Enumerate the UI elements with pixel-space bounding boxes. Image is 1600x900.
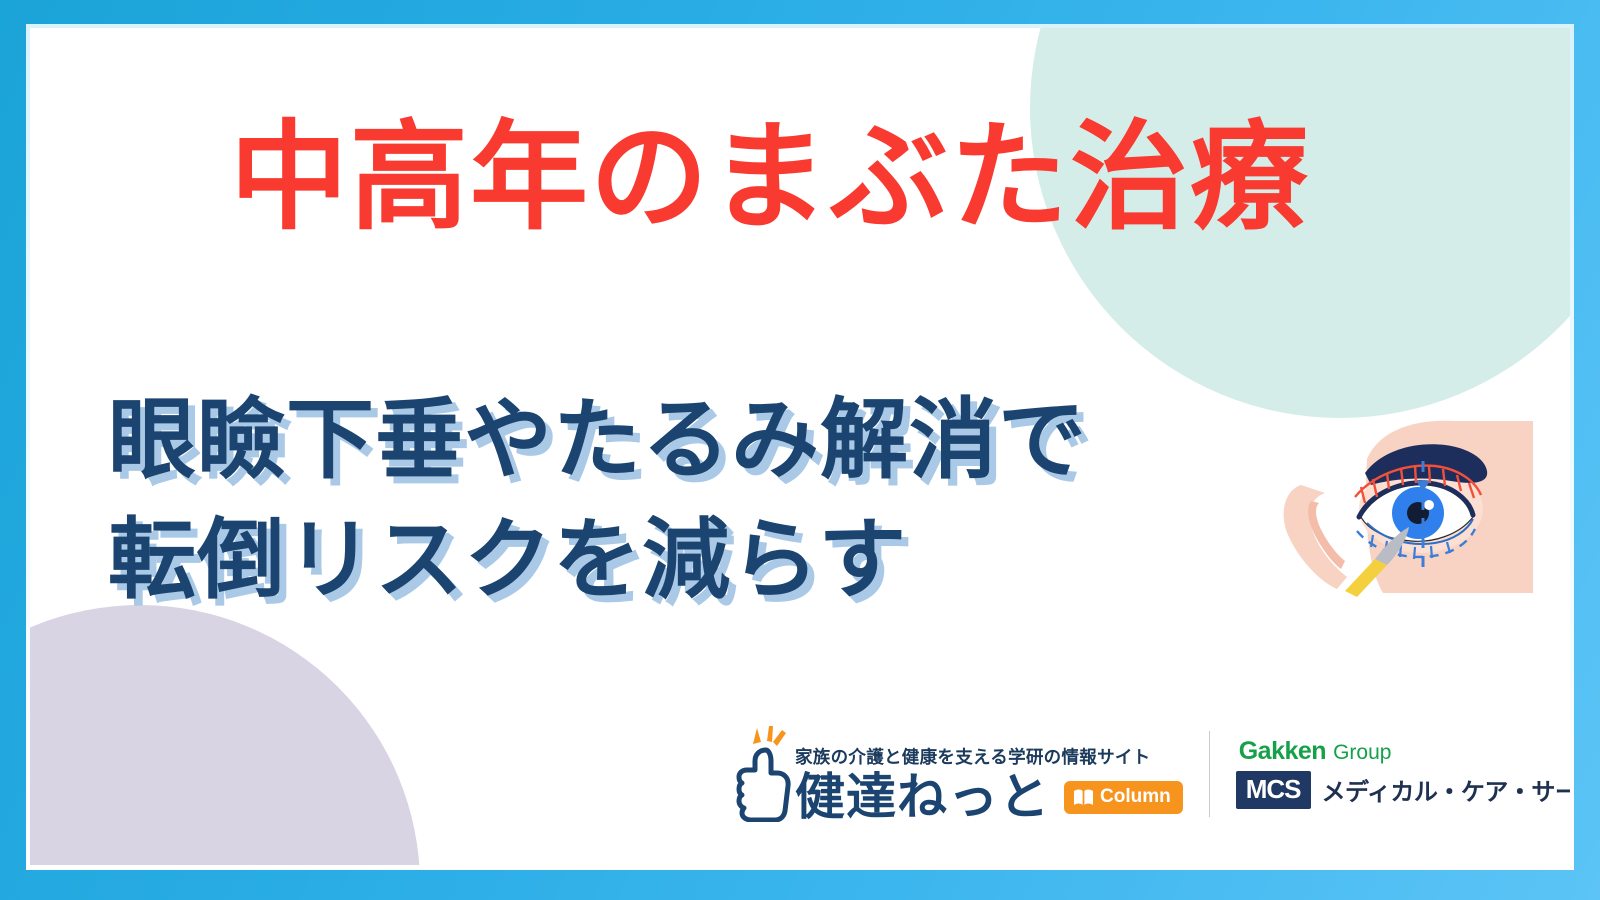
gakken-wordmark: Gakken (1239, 739, 1326, 764)
column-badge-label: Column (1100, 786, 1171, 808)
mcs-full-name: メディカル・ケア・サービス (1322, 772, 1571, 807)
column-badge[interactable]: Column (1064, 781, 1183, 814)
kentatsu-logo[interactable]: 家族の介護と健康を支える学研の情報サイト 健達ねっと Column (735, 726, 1183, 822)
thumb-outline (739, 750, 788, 820)
white-card: 中高年のまぶた治療 眼瞼下垂やたるみ解消で 転倒リスクを減らす (30, 28, 1570, 865)
kentatsu-tagline: 家族の介護と健康を支える学研の情報サイト (795, 744, 1183, 769)
kentatsu-text-block: 家族の介護と健康を支える学研の情報サイト 健達ねっと Column (795, 744, 1183, 822)
gakken-group-logo[interactable]: Gakken Group MCS メディカル・ケア・サービス (1236, 739, 1570, 808)
subtitle-line-1: 眼瞼下垂やたるみ解消で (108, 380, 1087, 500)
page-subtitle: 眼瞼下垂やたるみ解消で 転倒リスクを減らす (108, 380, 1087, 619)
kentatsu-brand-row: 健達ねっと Column (795, 772, 1183, 822)
book-icon (1073, 789, 1094, 806)
ear-shape (1284, 485, 1347, 589)
mcs-abbr-badge: MCS (1236, 771, 1311, 808)
gakken-name-row: Gakken Group (1236, 739, 1570, 764)
sparkle-rays (753, 726, 786, 746)
logo-divider (1209, 731, 1210, 817)
footer-logos: 家族の介護と健康を支える学研の情報サイト 健達ねっと Column (735, 726, 1570, 822)
eye-highlight (1424, 500, 1434, 510)
decorative-blob-lavender (30, 605, 420, 865)
subtitle-line-2: 転倒リスクを減らす (108, 500, 1087, 620)
poster-canvas: 中高年のまぶた治療 眼瞼下垂やたるみ解消で 転倒リスクを減らす (0, 0, 1600, 900)
eyelid-surgery-illustration (1275, 413, 1535, 598)
mcs-row: MCS メディカル・ケア・サービス (1236, 771, 1570, 808)
thumbs-up-icon (735, 726, 791, 822)
page-title: 中高年のまぶた治療 (230, 112, 1410, 244)
kentatsu-brand-name: 健達ねっと (795, 772, 1050, 822)
gakken-group-label: Group (1333, 742, 1391, 763)
